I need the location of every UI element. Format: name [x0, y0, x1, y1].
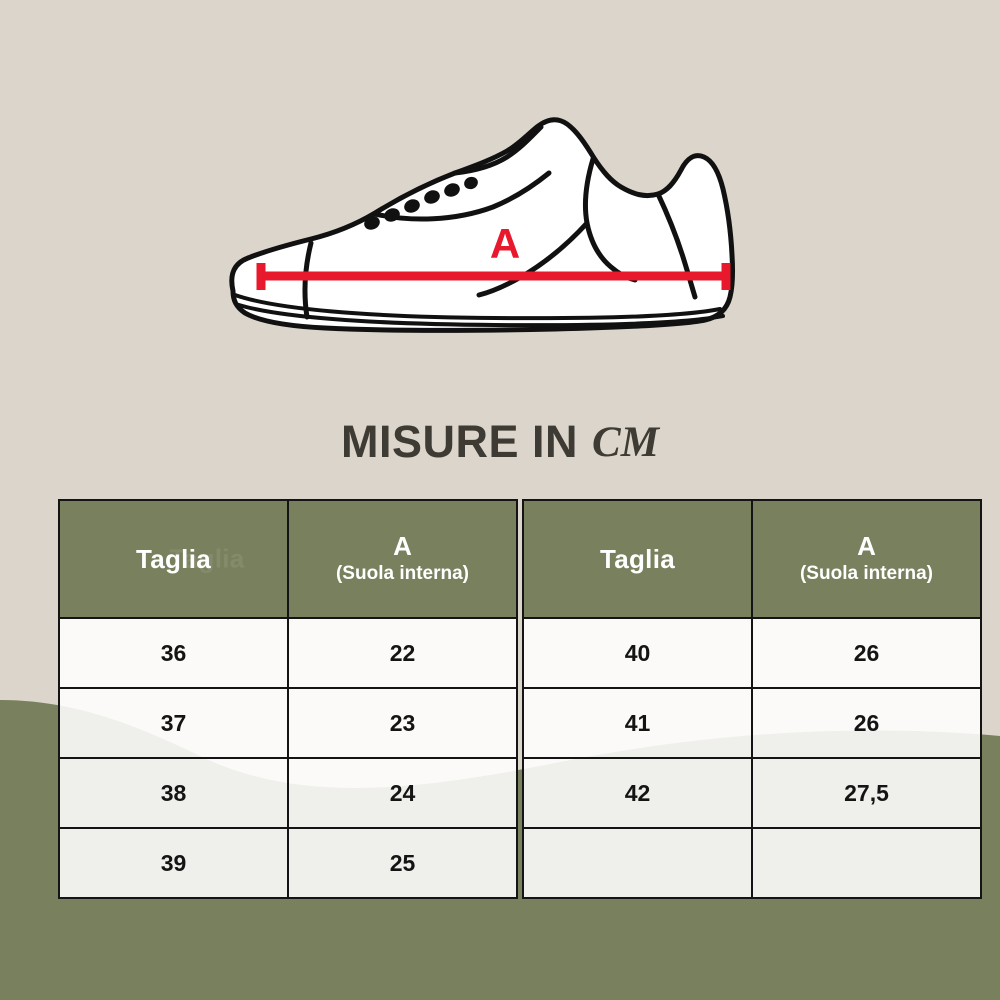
page-title: MISURE IN CM [0, 410, 1000, 472]
cell-size: 42 [523, 758, 752, 828]
header-cell-measure: A (Suola interna) [288, 500, 517, 618]
table-row: 40 26 [523, 618, 981, 688]
sneaker-illustration: A [215, 95, 775, 355]
header-cell-measure: A (Suola interna) [752, 500, 981, 618]
table-header-row: Taglia Taglia A (Suola interna) [59, 500, 517, 618]
header-label-measure-sub: (Suola interna) [753, 563, 980, 586]
cell-measure: 23 [288, 688, 517, 758]
size-tables: Taglia Taglia A (Suola interna) 36 22 37 [58, 499, 982, 887]
header-cell-size: Taglia Taglia [59, 500, 288, 618]
cell-measure [752, 828, 981, 898]
header-label-measure-main: A [753, 532, 980, 561]
table-row: 37 23 [59, 688, 517, 758]
table-row: 39 25 [59, 828, 517, 898]
cell-size: 37 [59, 688, 288, 758]
header-label-measure-main: A [289, 532, 516, 561]
table-row [523, 828, 981, 898]
cell-size: 40 [523, 618, 752, 688]
cell-measure: 26 [752, 618, 981, 688]
cell-size: 36 [59, 618, 288, 688]
header-label-size: Taglia [136, 544, 211, 574]
header-label-measure-sub: (Suola interna) [289, 563, 516, 586]
table-row: 42 27,5 [523, 758, 981, 828]
cell-measure: 26 [752, 688, 981, 758]
page-title-main: MISURE IN [341, 419, 578, 464]
table-header-row: Taglia A (Suola interna) [523, 500, 981, 618]
cell-size: 39 [59, 828, 288, 898]
cell-size: 38 [59, 758, 288, 828]
size-table-right: Taglia A (Suola interna) 40 26 41 26 [522, 499, 982, 899]
measure-label-a: A [490, 220, 520, 267]
page-title-unit: CM [592, 421, 659, 464]
cell-measure: 24 [288, 758, 517, 828]
cell-measure: 22 [288, 618, 517, 688]
cell-measure: 25 [288, 828, 517, 898]
cell-size [523, 828, 752, 898]
table-row: 38 24 [59, 758, 517, 828]
table-row: 41 26 [523, 688, 981, 758]
size-chart-page: A MISURE IN CM Taglia Taglia A (Suola in… [0, 0, 1000, 1000]
cell-size: 41 [523, 688, 752, 758]
table-row: 36 22 [59, 618, 517, 688]
cell-measure: 27,5 [752, 758, 981, 828]
size-table-left: Taglia Taglia A (Suola interna) 36 22 37 [58, 499, 518, 899]
header-cell-size: Taglia [523, 500, 752, 618]
header-label-size: Taglia [600, 544, 675, 574]
